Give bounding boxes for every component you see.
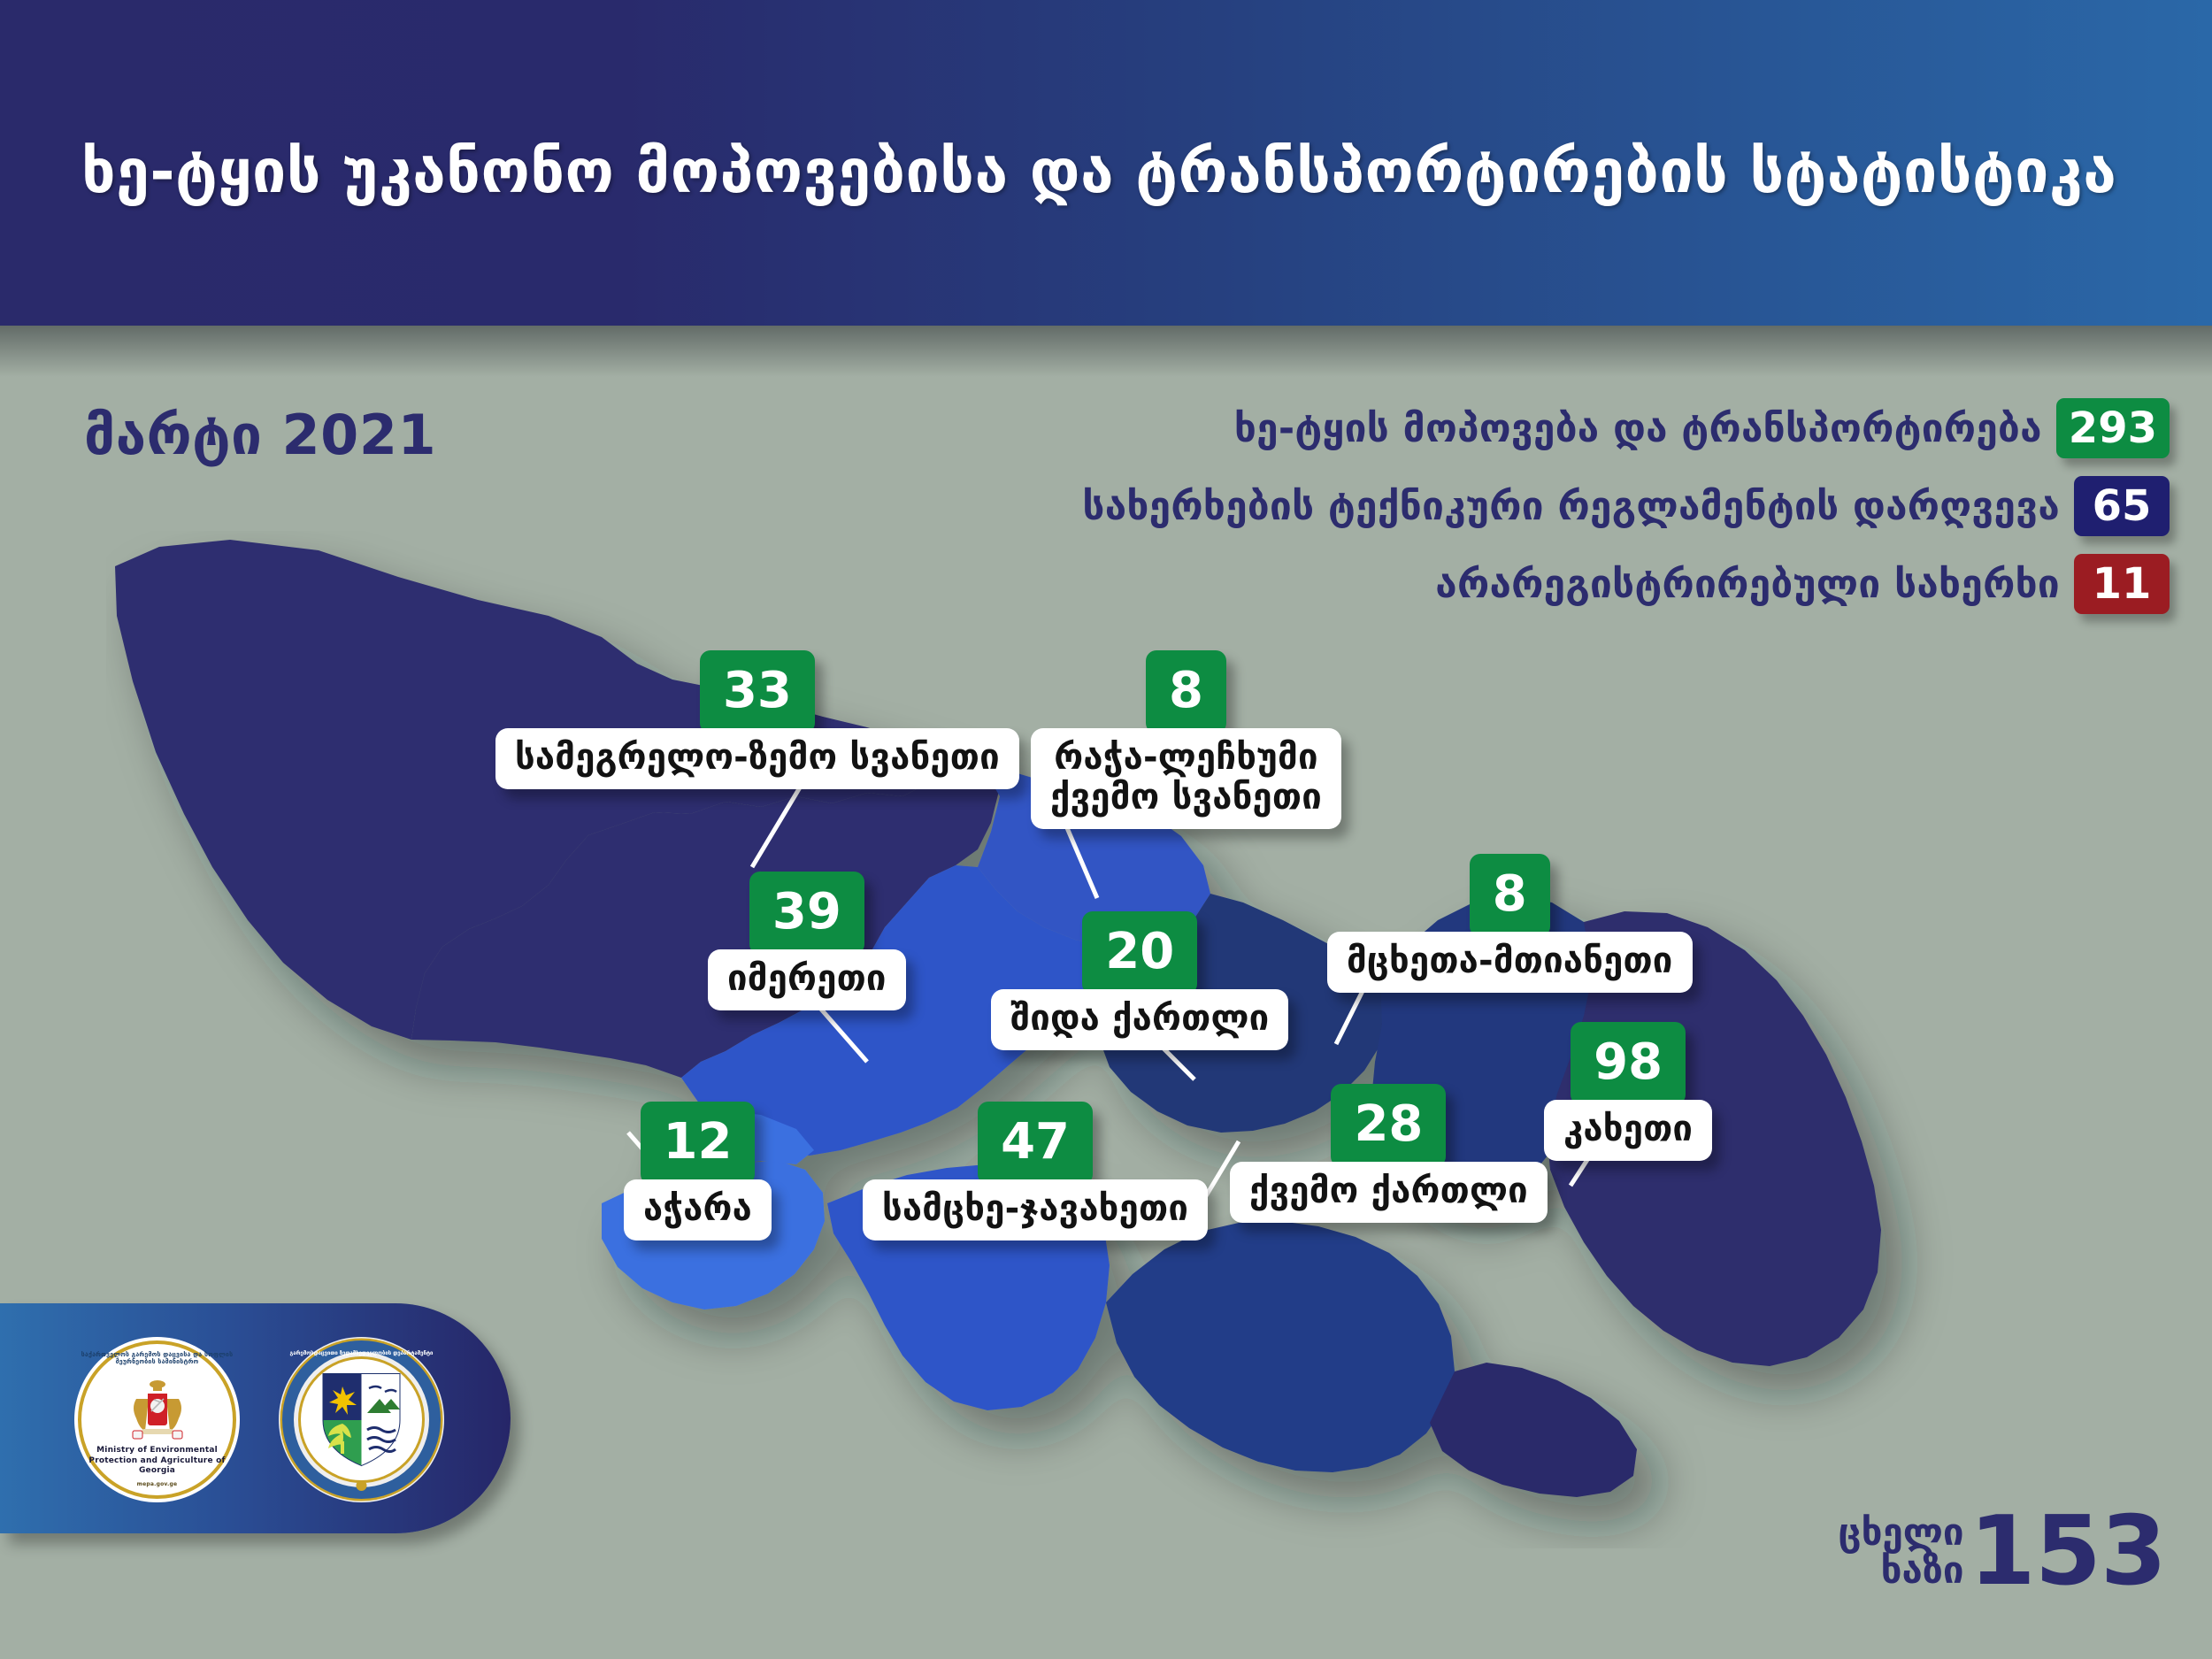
legend-item-unregistered-sawmill: არარეგისტრირებული სახერხი 11	[1082, 554, 2170, 614]
marker-stack: 28 ქვემო ქართლი	[1230, 1084, 1548, 1223]
region-kvemo-kartli	[1106, 1221, 1455, 1472]
header-shadow	[0, 326, 2212, 377]
legend-badge-green: 293	[2056, 398, 2170, 458]
marker-value: 47	[978, 1102, 1093, 1185]
marker-value: 39	[749, 872, 864, 955]
marker-samtskhe-javakheti[interactable]: 47 სამცხე-ჯავახეთი	[863, 1102, 1208, 1240]
marker-value: 98	[1571, 1022, 1686, 1105]
marker-value: 12	[641, 1102, 756, 1185]
ministry-seal: საქართველოს გარემოს დაცვისა და სოფლის მე…	[74, 1337, 240, 1502]
marker-label: აჭარა	[624, 1179, 772, 1240]
marker-value: 28	[1331, 1084, 1446, 1167]
department-emblem	[279, 1337, 444, 1502]
marker-stack: 39 იმერეთი	[708, 872, 906, 1010]
marker-label: ქვემო ქართლი	[1230, 1162, 1548, 1223]
hotline-line2: ხაზი	[1838, 1551, 1963, 1590]
marker-label: იმერეთი	[708, 949, 906, 1010]
department-seal-text: გარემოსდაცვითი ზედამხედველობის დეპარტამე…	[279, 1350, 444, 1356]
legend-label: არარეგისტრირებული სახერხი	[1435, 562, 2060, 607]
hotline-line1: ცხელი	[1838, 1513, 1963, 1552]
hotline: ცხელი ხაზი 153	[1838, 1508, 2166, 1595]
marker-value: 33	[700, 650, 815, 733]
marker-label: მცხეთა-მთიანეთი	[1327, 932, 1693, 993]
marker-stack: 20 შიდა ქართლი	[991, 911, 1288, 1050]
legend-item-sawmill-regulation: სახერხების ტექნიკური რეგლამენტის დარღვევ…	[1082, 476, 2170, 536]
marker-stack: 33 სამეგრელო-ზემო სვანეთი	[495, 650, 1019, 789]
page-title: ხე-ტყის უკანონო მოპოვებისა და ტრანსპორტი…	[81, 137, 2116, 207]
hotline-number: 153	[1970, 1508, 2166, 1595]
legend-badge-red: 11	[2074, 554, 2170, 614]
marker-adjara[interactable]: 12 აჭარა	[624, 1102, 772, 1240]
legend: ხე-ტყის მოპოვება და ტრანსპორტირება 293 ს…	[1082, 398, 2170, 632]
ministry-seal-georgian-text: საქართველოს გარემოს დაცვისა და სოფლის მე…	[74, 1351, 240, 1365]
ministry-seal-english-text: Ministry of Environmental Protection and…	[74, 1446, 240, 1476]
department-seal: გარემოსდაცვითი ზედამხედველობის დეპარტამე…	[279, 1337, 444, 1502]
legend-item-timber: ხე-ტყის მოპოვება და ტრანსპორტირება 293	[1082, 398, 2170, 458]
marker-kvemo-kartli[interactable]: 28 ქვემო ქართლი	[1230, 1084, 1548, 1223]
marker-imereti[interactable]: 39 იმერეთი	[708, 872, 906, 1010]
marker-mtskheta-mtianeti[interactable]: 8 მცხეთა-მთიანეთი	[1327, 854, 1693, 993]
marker-stack: 98 კახეთი	[1544, 1022, 1712, 1161]
marker-kakheti[interactable]: 98 კახეთი	[1544, 1022, 1712, 1161]
marker-value: 8	[1146, 650, 1226, 733]
marker-racha-lechkhumi[interactable]: 8 რაჭა-ლეჩხუმი ქვემო სვანეთი	[1031, 650, 1341, 829]
marker-stack: 47 სამცხე-ჯავახეთი	[863, 1102, 1208, 1240]
georgia-coat-of-arms	[126, 1379, 189, 1448]
marker-samegrelo-zemo-svaneti[interactable]: 33 სამეგრელო-ზემო სვანეთი	[495, 650, 1019, 789]
marker-label: სამცხე-ჯავახეთი	[863, 1179, 1208, 1240]
marker-value: 20	[1082, 911, 1197, 995]
marker-stack: 12 აჭარა	[624, 1102, 772, 1240]
marker-shida-kartli[interactable]: 20 შიდა ქართლი	[991, 911, 1288, 1050]
ministry-seal-url: mepa.gov.ge	[74, 1481, 240, 1487]
period-label: მარტი 2021	[84, 403, 436, 467]
legend-label: ხე-ტყის მოპოვება და ტრანსპორტირება	[1234, 406, 2042, 451]
region-kvemo-kartli-south	[1430, 1363, 1637, 1497]
legend-badge-navy: 65	[2074, 476, 2170, 536]
marker-label: სამეგრელო-ზემო სვანეთი	[495, 728, 1019, 789]
marker-label: შიდა ქართლი	[991, 989, 1288, 1050]
marker-stack: 8 მცხეთა-მთიანეთი	[1327, 854, 1693, 993]
logo-panel: საქართველოს გარემოს დაცვისა და სოფლის მე…	[0, 1303, 511, 1533]
marker-stack: 8 რაჭა-ლეჩხუმი ქვემო სვანეთი	[1031, 650, 1341, 829]
page-header: ხე-ტყის უკანონო მოპოვებისა და ტრანსპორტი…	[0, 0, 2212, 326]
hotline-words: ცხელი ხაზი	[1838, 1513, 1963, 1590]
marker-label: რაჭა-ლეჩხუმი ქვემო სვანეთი	[1031, 728, 1341, 829]
legend-label: სახერხების ტექნიკური რეგლამენტის დარღვევ…	[1082, 484, 2060, 529]
marker-label: კახეთი	[1544, 1100, 1712, 1161]
marker-value: 8	[1470, 854, 1550, 937]
